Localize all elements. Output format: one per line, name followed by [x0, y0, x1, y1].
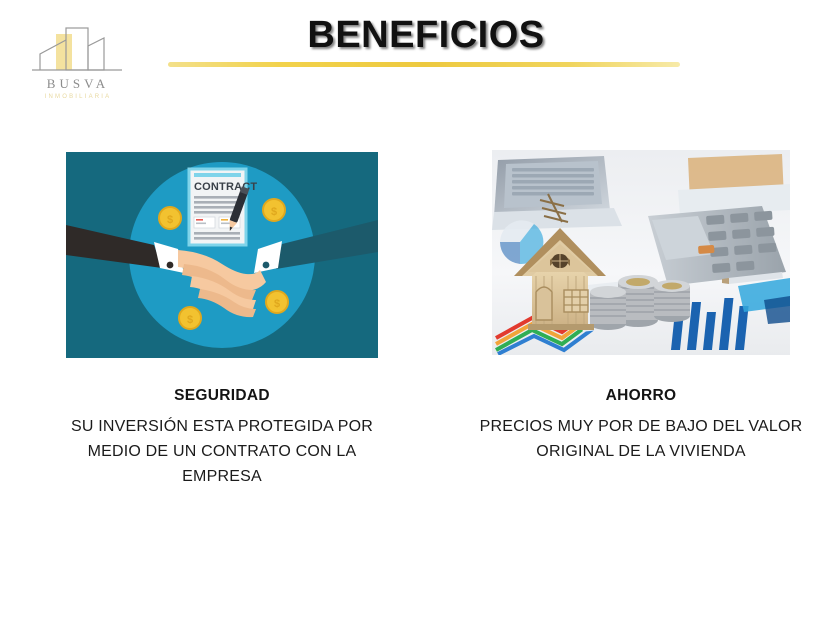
ahorro-heading: AHORRO: [492, 387, 790, 405]
logo-wordmark: BUSVA: [22, 76, 134, 92]
svg-text:$: $: [167, 214, 173, 226]
seguridad-image: CONTRACT: [66, 152, 378, 358]
handshake-contract-illustration: CONTRACT: [66, 152, 378, 358]
logo-tagline: INMOBILIARIA: [22, 94, 134, 100]
ahorro-image: [492, 150, 790, 355]
page-title: BENEFICIOS: [170, 14, 682, 57]
ahorro-body: PRECIOS MUY POR DE BAJO DEL VALOR ORIGIN…: [474, 414, 808, 464]
svg-text:$: $: [271, 206, 277, 218]
seguridad-heading: SEGURIDAD: [66, 387, 378, 405]
buildings-outline-icon: [22, 24, 134, 80]
title-underline-rule: [168, 62, 680, 67]
seguridad-body: SU INVERSIÓN ESTA PROTEGIDA POR MEDIO DE…: [52, 414, 392, 489]
svg-text:$: $: [187, 314, 193, 326]
svg-text:$: $: [274, 298, 280, 310]
model-house-coins-calculator-photo: [492, 150, 790, 355]
brand-logo: BUSVA INMOBILIARIA: [22, 24, 134, 108]
